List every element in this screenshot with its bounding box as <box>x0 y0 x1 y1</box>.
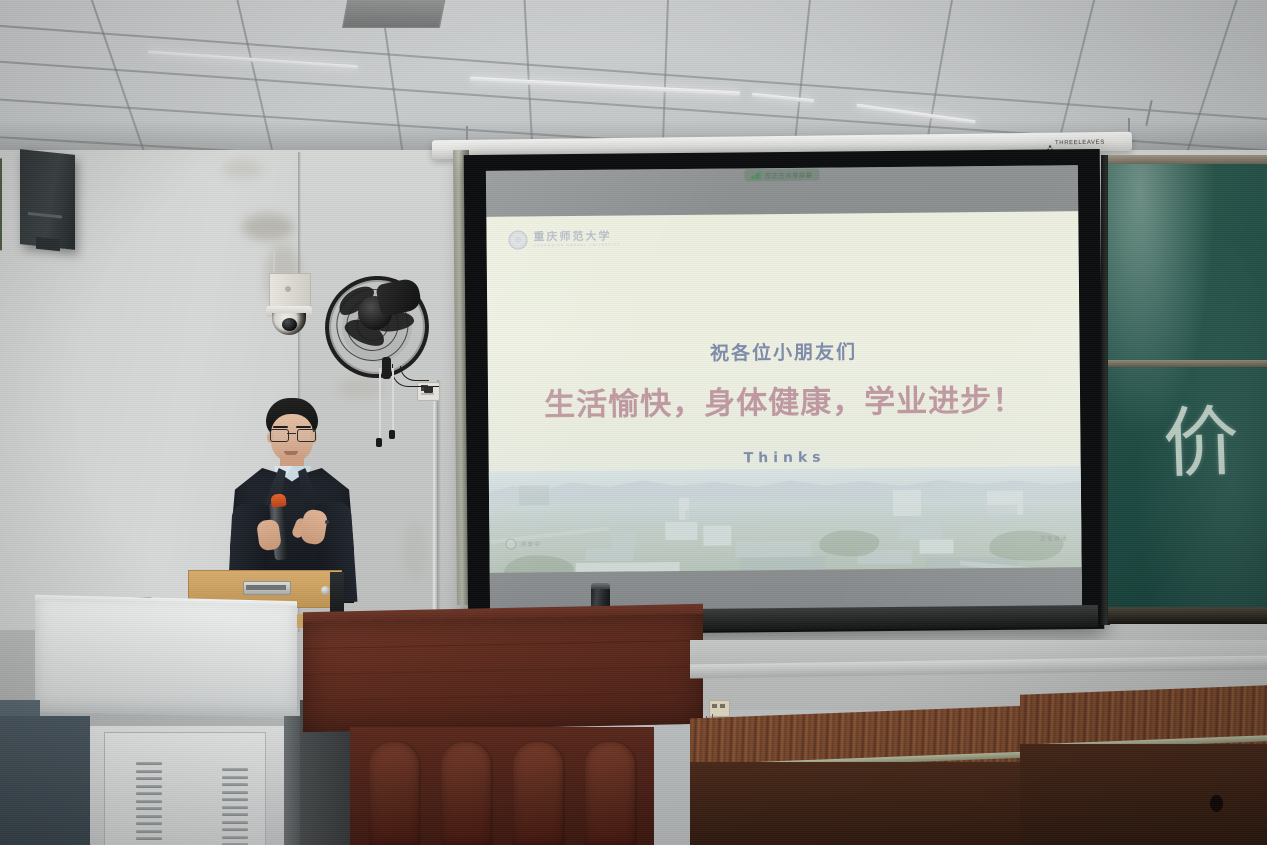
blackboard-top-edge <box>1108 155 1267 164</box>
eyeglasses-icon <box>270 429 314 440</box>
stage-cable-hole <box>1210 795 1223 812</box>
jacket-button <box>325 520 329 524</box>
presenter-hand-left <box>256 519 282 552</box>
slide-overlay-left: 共享中 <box>505 538 541 549</box>
microphone-head-icon <box>270 493 286 507</box>
fan-pull-chain[interactable] <box>392 368 394 432</box>
console-lock-icon[interactable] <box>321 586 330 595</box>
ac-vent-icon <box>342 0 446 28</box>
university-name-en: CHONGQING NORMAL UNIVERSITY <box>534 243 621 247</box>
projection-screen: 您正在共享屏幕 ◎ 重庆师范大学 CHONGQING NORMAL UNIVER… <box>464 149 1105 635</box>
zoom-topbar: 您正在共享屏幕 <box>486 165 1078 217</box>
wall-speaker <box>20 149 75 250</box>
console-side-shadow <box>330 572 344 612</box>
stage-face-rear <box>1020 744 1267 845</box>
slide-overlay-left-text: 共享中 <box>520 539 540 548</box>
speaker-bracket <box>36 237 60 252</box>
share-banner-text: 您正在共享屏幕 <box>765 170 813 180</box>
camera-lens <box>282 318 297 331</box>
fan-neck <box>382 357 391 379</box>
blackboard-surface <box>1108 164 1267 607</box>
podium-panel <box>369 742 419 845</box>
screen-brand-label: THREELEAVES <box>1055 140 1105 147</box>
console-handle-inner <box>246 585 286 590</box>
mitsubishi-logo-icon <box>1046 139 1054 147</box>
floor-left <box>0 716 90 845</box>
screen-share-banner: 您正在共享屏幕 <box>744 169 819 182</box>
university-seal-icon: ◎ <box>508 230 527 249</box>
presenter-mouth <box>284 451 298 455</box>
podium-panel <box>441 742 491 845</box>
slide-greeting-line: 祝各位小朋友们 <box>487 335 1079 368</box>
podium-panel <box>585 742 635 845</box>
classroom-photo: THREELEAVES 您正在共享屏幕 ◎ <box>0 0 1267 845</box>
blackboard-divider <box>1108 360 1267 367</box>
slide-overlay-right: 正在讲话 <box>1040 533 1067 542</box>
university-logo: ◎ 重庆师范大学 CHONGQING NORMAL UNIVERSITY <box>508 230 620 250</box>
cabinet-vent-right <box>222 768 248 845</box>
camera-mount-screw <box>285 286 291 292</box>
screen-surface: 您正在共享屏幕 ◎ 重庆师范大学 CHONGQING NORMAL UNIVER… <box>486 165 1082 623</box>
slide-overlay-right-text: 正在讲话 <box>1040 533 1067 542</box>
blackboard-chalk-text: 价 <box>1162 404 1241 483</box>
signal-bars-icon <box>751 172 760 179</box>
university-name-cn: 重庆师范大学 <box>533 231 620 243</box>
lectern-front <box>303 614 703 732</box>
slide-headline: 生活愉快，身体健康，学业进步！ <box>488 374 1080 425</box>
fan-pull-chain[interactable] <box>379 368 381 440</box>
equipment-cabinet-upper <box>35 600 297 718</box>
slide-overlay-dot-icon <box>505 539 516 550</box>
chalk-tray <box>1108 607 1267 624</box>
podium-panel <box>513 742 563 845</box>
speaker-side-panel <box>0 158 2 251</box>
cabinet-vent-left <box>136 762 162 845</box>
blackboard: 价 <box>1108 155 1267 630</box>
thermos-cap <box>591 583 610 589</box>
presentation-slide: ◎ 重庆师范大学 CHONGQING NORMAL UNIVERSITY 祝各位… <box>486 211 1081 573</box>
stage-face-front <box>690 762 1030 845</box>
slide-thanks-line: Thinks <box>489 447 1081 469</box>
